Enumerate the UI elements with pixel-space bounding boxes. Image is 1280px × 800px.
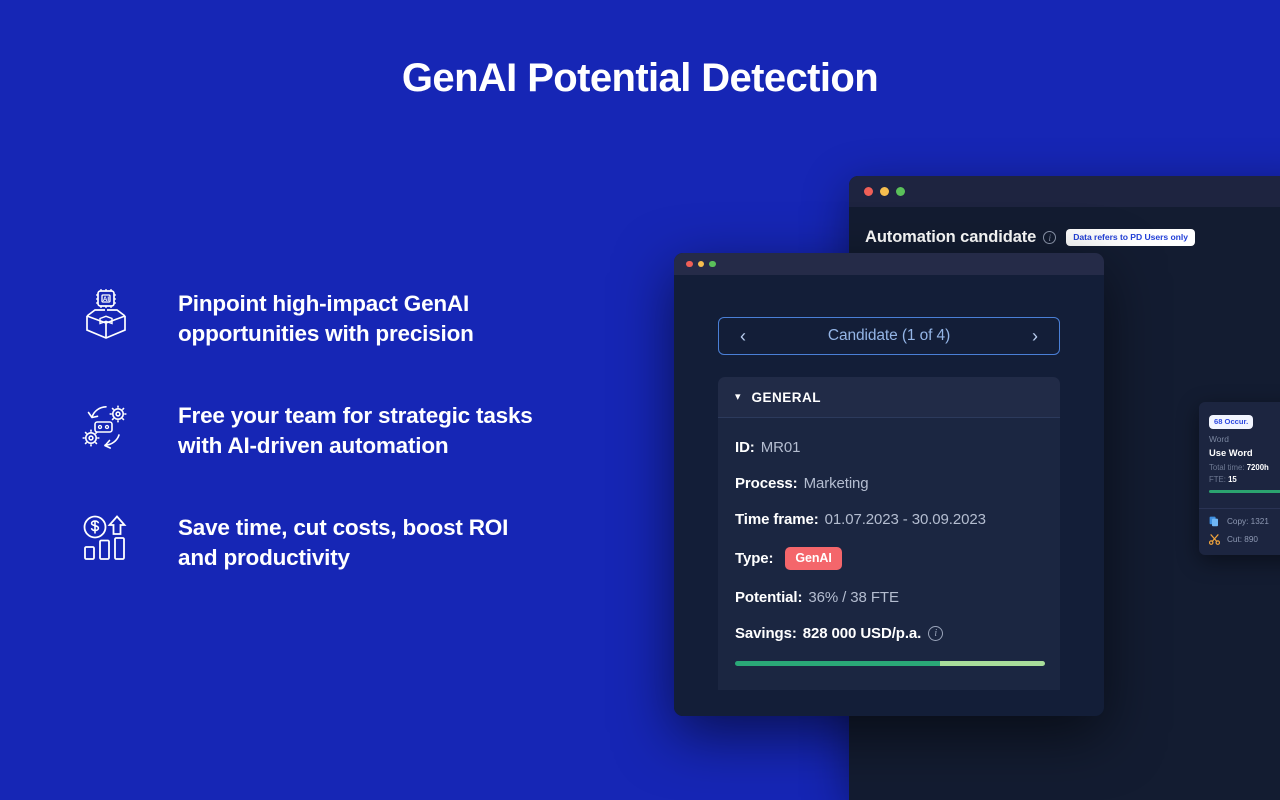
detail-value: 36% / 38 FTE — [808, 589, 899, 606]
feature-text: Free your team for strategic tasks with … — [178, 397, 533, 461]
minimize-dot[interactable] — [698, 261, 705, 268]
pd-users-badge: Data refers to PD Users only — [1066, 229, 1195, 246]
general-section-header[interactable]: ▾ GENERAL — [718, 377, 1060, 418]
detail-row-time-frame: Time frame: 01.07.2023 - 30.09.2023 — [735, 511, 1043, 528]
widget-action-name: Use Word — [1209, 447, 1280, 458]
feature-line-1: Pinpoint high-impact GenAI — [178, 291, 469, 316]
candidate-label: Candidate (1 of 4) — [828, 327, 950, 345]
list-item-label: Copy: 1321 — [1227, 517, 1269, 526]
detail-value: Marketing — [804, 475, 869, 492]
detail-key: Process: — [735, 475, 798, 492]
detail-row-id: ID: MR01 — [735, 439, 1043, 456]
feature-line-2: and productivity — [178, 545, 350, 570]
list-item[interactable]: Cut: 890 T! — [1209, 534, 1280, 545]
feature-item: Save time, cut costs, boost ROI and prod… — [78, 509, 598, 573]
list-item[interactable]: Copy: 1321 — [1209, 516, 1280, 527]
widget-fte: FTE: 15 — [1209, 475, 1280, 484]
chevron-right-icon[interactable]: › — [1026, 327, 1044, 345]
info-icon[interactable]: i — [1043, 231, 1056, 244]
candidate-navigator[interactable]: ‹ Candidate (1 of 4) › — [718, 317, 1060, 355]
svg-text:AI: AI — [103, 296, 109, 303]
widget-total-time: Total time: 7200h — [1209, 463, 1280, 472]
close-dot[interactable] — [686, 261, 693, 268]
list-item-label: Cut: 890 — [1227, 535, 1258, 544]
occurrence-widget-top: 68 Occur. Word Use Word Total time: 7200… — [1199, 411, 1280, 501]
section-title: GENERAL — [752, 390, 822, 405]
page-root: GenAI Potential Detection AI Pinpoint hi… — [0, 0, 1280, 800]
back-window-header: Automation candidate i Data refers to PD… — [849, 207, 1280, 247]
close-dot[interactable] — [864, 187, 873, 196]
detail-key: Type: — [735, 550, 773, 567]
page-title: GenAI Potential Detection — [0, 56, 1280, 101]
window-titlebar — [674, 253, 1104, 275]
detail-key: ID: — [735, 439, 755, 456]
detail-row-potential: Potential: 36% / 38 FTE — [735, 589, 1043, 606]
detail-value: 828 000 USD/p.a. — [803, 625, 921, 642]
ai-box-icon: AI — [78, 285, 134, 343]
savings-growth-icon — [78, 509, 134, 567]
candidate-detail-card: ‹ Candidate (1 of 4) › ▾ GENERAL ID: MR0… — [674, 253, 1104, 716]
detail-key: Savings: — [735, 625, 797, 642]
occurrence-widget[interactable]: 68 Occur. Word Use Word Total time: 7200… — [1199, 402, 1280, 555]
progress-secondary — [940, 661, 1045, 666]
feature-item: AI Pinpoint high-impact GenAI opportunit… — [78, 285, 598, 349]
detail-value: MR01 — [761, 439, 801, 456]
feature-text: Save time, cut costs, boost ROI and prod… — [178, 509, 508, 573]
detail-key: Time frame: — [735, 511, 819, 528]
total-time-label: Total time: — [1209, 463, 1245, 472]
chevron-down-icon[interactable]: ▾ — [735, 392, 741, 403]
general-section-body: ID: MR01 Process: Marketing Time frame: … — [718, 418, 1060, 690]
info-icon[interactable]: i — [928, 626, 943, 641]
maximize-dot[interactable] — [709, 261, 716, 268]
general-section: ▾ GENERAL ID: MR01 Process: Marketing Ti… — [718, 377, 1060, 690]
copy-icon — [1209, 516, 1221, 527]
status-badge: GenAI — [785, 547, 841, 570]
savings-progress-bar — [735, 661, 1045, 666]
widget-progress-bar — [1209, 490, 1280, 493]
feature-line-1: Free your team for strategic tasks — [178, 403, 533, 428]
occurrences-badge: 68 Occur. — [1209, 415, 1253, 430]
feature-list: AI Pinpoint high-impact GenAI opportunit… — [78, 285, 598, 573]
maximize-dot[interactable] — [896, 187, 905, 196]
back-window-title: Automation candidate — [865, 228, 1036, 247]
total-time-value: 7200h — [1247, 463, 1269, 472]
cut-icon — [1209, 534, 1221, 545]
feature-text: Pinpoint high-impact GenAI opportunities… — [178, 285, 474, 349]
minimize-dot[interactable] — [880, 187, 889, 196]
widget-app-name: Word — [1209, 434, 1280, 444]
fte-value: 15 — [1228, 475, 1237, 484]
detail-row-savings: Savings: 828 000 USD/p.a. i — [735, 625, 1043, 642]
detail-row-process: Process: Marketing — [735, 475, 1043, 492]
feature-item: Free your team for strategic tasks with … — [78, 397, 598, 461]
detail-value: 01.07.2023 - 30.09.2023 — [825, 511, 986, 528]
window-titlebar — [849, 176, 1280, 207]
fte-label: FTE: — [1209, 475, 1226, 484]
feature-line-2: with AI-driven automation — [178, 433, 448, 458]
progress-primary — [735, 661, 940, 666]
feature-line-2: opportunities with precision — [178, 321, 474, 346]
gears-automation-icon — [78, 397, 134, 455]
widget-action-rows: Copy: 1321 Cut: 890 — [1199, 509, 1280, 555]
detail-row-type: Type: GenAI — [735, 547, 1043, 570]
chevron-left-icon[interactable]: ‹ — [734, 327, 752, 345]
detail-key: Potential: — [735, 589, 802, 606]
card-body: ‹ Candidate (1 of 4) › ▾ GENERAL ID: MR0… — [674, 275, 1104, 716]
feature-line-1: Save time, cut costs, boost ROI — [178, 515, 508, 540]
